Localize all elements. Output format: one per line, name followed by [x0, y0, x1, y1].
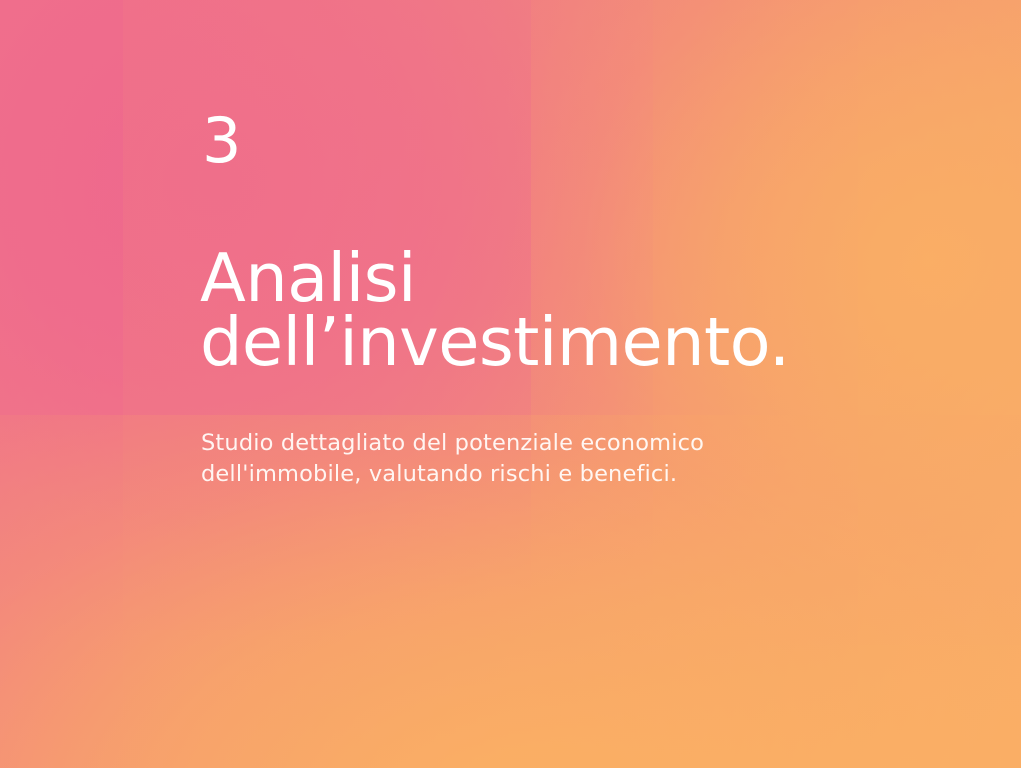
page-title: Analisi dell’investimento.	[200, 246, 790, 374]
headline-line-1: Analisi	[200, 246, 790, 310]
slide-content: 3 Analisi dell’investimento. Studio dett…	[200, 0, 900, 768]
subtitle-line-1: Studio dettagliato del potenziale econom…	[201, 428, 704, 459]
headline-line-2: dell’investimento.	[200, 310, 790, 374]
section-number: 3	[202, 110, 242, 172]
page-subtitle: Studio dettagliato del potenziale econom…	[201, 428, 704, 490]
subtitle-line-2: dell'immobile, valutando rischi e benefi…	[201, 459, 704, 490]
slide-canvas: 3 Analisi dell’investimento. Studio dett…	[0, 0, 1021, 768]
